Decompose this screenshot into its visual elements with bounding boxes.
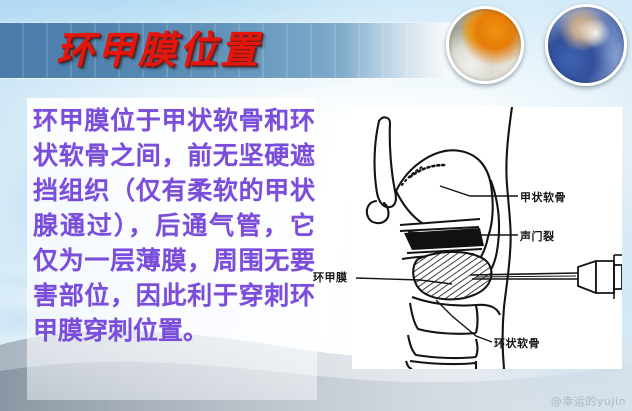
banner-fade	[342, 23, 452, 78]
page-title: 环甲膜位置	[56, 24, 261, 76]
cricothyroid-membrane-sagittal-diagram	[352, 107, 622, 369]
body-text: 环甲膜位于甲状软骨和环状软骨之间，前无坚硬遮挡组织（仅有柔软的甲状腺通过），后通…	[33, 103, 315, 348]
label-cricothyroid-membrane: 环甲膜	[313, 269, 348, 285]
label-glottic-fissure: 声门裂	[520, 228, 555, 244]
pill-bottle-photo	[446, 6, 524, 84]
slide-root: 环甲膜位置 环甲膜位于甲状软骨和环状软骨之间，前无坚硬遮挡组织（仅有柔软的甲状腺…	[0, 0, 632, 411]
label-cricoid-cartilage: 环状软骨	[494, 335, 540, 351]
surgeon-photo	[545, 4, 627, 86]
label-thyroid-cartilage: 甲状软骨	[520, 189, 566, 205]
watermark: @幸运的yujin	[551, 393, 626, 409]
